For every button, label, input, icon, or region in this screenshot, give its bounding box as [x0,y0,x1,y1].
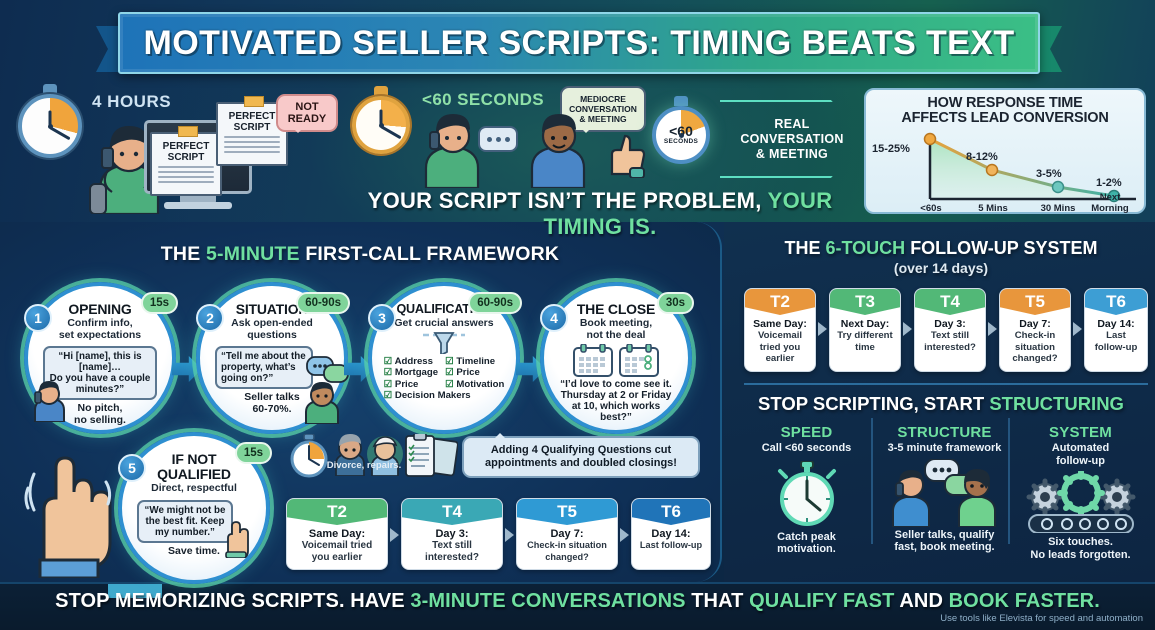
step-duration-1: 15s [141,292,178,314]
title-ribbon: MOTIVATED SELLER SCRIPTS: TIMING BEATS T… [96,12,1062,74]
column-footnote: Catch peak motivation. [740,531,873,556]
arrow-line2: CONVERSATION [740,132,843,146]
small-stop-hand-icon [222,520,252,558]
framework-heading-accent: 5-MINUTE [206,243,300,265]
not-ready-label: NOT READY [278,101,336,125]
structuring-heading: STOP SCRIPTING, START STRUCTURING [736,393,1146,415]
checklist-item: ☑ Decision Makers [384,390,505,402]
ribbon-body: MOTIVATED SELLER SCRIPTS: TIMING BEATS T… [118,12,1040,74]
doc-front-line2: SCRIPT [168,152,205,163]
column-subtitle: Automated follow-up [1014,442,1147,467]
tagline-plain: YOUR SCRIPT ISN’T THE PROBLEM, [368,188,768,213]
checklist-item: ☑ Price [384,379,438,391]
hero-left-scene: 4 HOURS PERFECTSCRIPT PERFECTSCRIPT NOT … [8,78,338,214]
step-duration-3: 60-90s [468,292,522,314]
calendar-icons [572,344,660,378]
stamp-60-unit: SECONDS [664,138,698,145]
doc-back-line2: SCRIPT [234,122,271,133]
mini-timeline-card[interactable]: T5 Day 7:Check-in situation changed? [516,498,618,570]
chart-xtick-0: <60s [908,203,954,214]
touch-card-code: T6 [1085,289,1147,315]
touch-card-line1: Day 3: [919,318,981,330]
mini-card-code: T6 [632,499,710,525]
step-number-4: 4 [540,304,568,332]
arrow-line3: & MEETING [756,147,828,161]
chart-point-label-1: 8-12% [966,151,998,163]
column-subtitle: 3-5 minute framework [878,442,1011,455]
chart-point-label-3: 1-2% [1096,177,1122,189]
column-title: STRUCTURE [878,424,1011,441]
chart-title: HOW RESPONSE TIME AFFECTS LEAD CONVERSIO… [874,96,1136,126]
footer-part1: STOP MEMORIZING SCRIPTS. HAVE [55,590,410,612]
sixtouch-subheading: (over 14 days) [736,260,1146,276]
footer-part2: THAT [686,590,750,612]
step-quote-4: “I’d love to come see it. Thursday at 2 … [553,379,679,423]
step-duration-5: 15s [235,442,272,464]
monitor-base [164,202,232,209]
thumbs-up-icon [600,130,648,178]
touch-card-code: T2 [745,289,815,315]
response-time-chart: HOW RESPONSE TIME AFFECTS LEAD CONVERSIO… [864,88,1146,214]
step-subtitle-5: Direct, respectful [131,483,257,495]
chart-point-label-0: 15-25% [872,143,910,155]
touch-card-t2[interactable]: T2 Same Day:Voicemail tried you earlier [744,288,816,372]
framework-heading: THE 5-MINUTE FIRST-CALL FRAMEWORK [40,243,680,266]
step-duration-2: 60-90s [296,292,350,314]
step-number-2: 2 [196,304,224,332]
chart-xtick-1: 5 Mins [966,203,1020,214]
column-footnote: Seller talks, qualify fast, book meeting… [878,529,1011,554]
clock-4hours-icon [16,84,84,158]
checklist-item: ☑ Motivation [445,379,504,391]
step-card-close[interactable]: 4 30s THE CLOSE Book meeting, not the de… [540,282,692,434]
step-number-3: 3 [368,304,396,332]
mini-timeline-card[interactable]: T4 Day 3:Text still interested? [401,498,503,570]
mini-card-line2: Check-in situation changed? [521,540,613,563]
clipboard-notes-icon [404,434,458,478]
structuring-column-structure: STRUCTURE 3-5 minute framework Seller ta… [878,424,1011,554]
mini-card-line2: Voicemail tried you earlier [291,540,383,563]
mini-card-line1: Same Day: [291,528,383,540]
mini-card-line1: Day 7: [521,528,613,540]
step-subtitle-1: Confirm info, set expectations [37,318,163,341]
mini-card-line1: Day 14: [636,528,706,540]
mini-timeline-card[interactable]: T2 Same Day:Voicemail tried you earlier [286,498,388,570]
touch-card-code: T3 [830,289,900,315]
clock-60seconds-icon [350,86,412,154]
framework-heading-pre: THE [161,243,206,265]
column-title: SYSTEM [1014,424,1147,441]
footer-part3: AND [894,590,948,612]
step-card-qualification[interactable]: 3 60-90s QUALIFICATION Get crucial answe… [368,282,520,434]
step-subtitle-3: Get crucial answers [381,318,507,330]
touch-card-line2: Voicemail tried you earlier [749,330,811,365]
page-title: MOTIVATED SELLER SCRIPTS: TIMING BEATS T… [144,24,1015,63]
sixtouch-heading-pre: THE [784,238,825,258]
touch-card-line2: Check-in situation changed? [1004,330,1066,365]
step-quote-2: “Tell me about the property, what’s goin… [215,346,313,389]
sixtouch-heading-post: FOLLOW-UP SYSTEM [905,238,1097,258]
doc-back-line1: PERFECT [229,111,276,122]
chart-title-line1: HOW RESPONSE TIME [927,95,1082,111]
step-card-not-qualified[interactable]: 5 15s IF NOT QUALIFIED Direct, respectfu… [118,432,270,584]
checklist-item: ☑ Address [384,356,438,368]
step-number-5: 5 [118,454,146,482]
touch-card-t6[interactable]: T6 Day 14:Last follow-up [1084,288,1148,372]
footer-accent2: QUALIFY FAST [749,590,894,612]
touch-card-code: T4 [915,289,985,315]
aside-caption: Divorce, repairs. [316,460,412,471]
mini-card-code: T2 [287,499,387,525]
checklist-item: ☑ Timeline [445,356,504,368]
step-number-1: 1 [24,304,52,332]
footer-accent1: 3-MINUTE CONVERSATIONS [410,590,685,612]
mini-timeline-card[interactable]: T6 Day 14:Last follow-up [631,498,711,570]
arrow-line1: REAL [774,117,809,131]
stopwatch-icon [774,461,840,527]
mini-card-code: T5 [517,499,617,525]
checklist-item: ☑ Mortgage [384,367,438,379]
section-divider [744,383,1148,385]
structuring-column-system: SYSTEM Automated follow-up Six touches. … [1014,424,1147,561]
chart-xtick-3: Next Morning [1080,192,1140,214]
step-duration-4: 30s [657,292,694,314]
seller-avatar-icon [300,380,344,424]
conversation-dots-icon [478,126,518,152]
column-divider [871,418,873,544]
step-subtitle-4: Book meeting, not the deal [553,318,679,341]
column-divider [1008,418,1010,544]
touch-card-code: T5 [1000,289,1070,315]
stamp-60-value: <60 [669,125,693,138]
caller-avatar-icon [30,378,68,422]
stamp-60-seconds-icon: <60 SECONDS [650,96,712,164]
two-people-talking-icon [889,459,1001,527]
touch-card-line1: Day 14: [1089,318,1143,330]
footer-headline: STOP MEMORIZING SCRIPTS. HAVE 3-MINUTE C… [0,590,1155,613]
column-subtitle: Call <60 seconds [740,442,873,455]
mediocre-line1: MEDIOCRE [580,94,626,104]
stop-hand-icon [22,452,118,578]
hero-tagline: YOUR SCRIPT ISN’T THE PROBLEM, YOUR TIMI… [330,188,870,240]
step-quote-5: “We might not be the best fit. Keep my n… [137,500,233,543]
step-card-situation[interactable]: 2 60-90s SITUATION Ask open-ended questi… [196,282,348,434]
mini-card-code: T4 [402,499,502,525]
aside-icon-row [288,432,458,480]
chart-plot-area: 15-25% 8-12% 3-5% 1-2% <60s 5 Mins 30 Mi… [874,129,1140,213]
mini-card-line2: Last follow-up [636,540,706,552]
touch-card-t3[interactable]: T3 Next Day:Try different time [829,288,901,372]
mini-card-line2: Text still interested? [406,540,498,563]
chart-point-label-2: 3-5% [1036,168,1062,180]
checklist-item: ☑ Price [445,367,504,379]
hero-left-clock-label: 4 HOURS [92,92,171,112]
step-subtitle-2: Ask open-ended questions [209,318,335,341]
sixtouch-heading-accent: 6-TOUCH [826,238,906,258]
touch-card-line1: Same Day: [749,318,811,330]
not-ready-badge: NOT READY [276,94,338,132]
gears-icon [1023,471,1139,533]
funnel-icon [415,332,473,354]
touch-card-line2: Try different time [834,330,896,353]
footer-accent3: BOOK FASTER. [949,590,1100,612]
touch-card-line2: Text still interested? [919,330,981,353]
sixtouch-heading: THE 6-TOUCH FOLLOW-UP SYSTEM (over 14 da… [736,238,1146,276]
chart-xtick-2: 30 Mins [1028,203,1088,214]
framework-heading-post: FIRST-CALL FRAMEWORK [300,243,559,265]
chart-title-line2: AFFECTS LEAD CONVERSION [901,110,1108,126]
structuring-heading-accent: STRUCTURING [989,393,1124,414]
structuring-heading-pre: STOP SCRIPTING, START [758,393,989,414]
column-title: SPEED [740,424,873,441]
touch-card-line1: Next Day: [834,318,896,330]
touch-card-line1: Day 7: [1004,318,1066,330]
seller-person-icon [524,108,598,188]
infographic-canvas: MOTIVATED SELLER SCRIPTS: TIMING BEATS T… [0,0,1155,630]
column-footnote: Six touches. No leads forgotten. [1014,536,1147,561]
small-clock-icon [288,434,330,478]
mini-card-line1: Day 3: [406,528,498,540]
qualification-checklist: ☑ Address ☑ Timeline ☑ Mortgage ☑ Price … [381,356,507,402]
footer-attribution: Use tools like Elevista for speed and au… [0,613,1155,624]
insight-bubble: Adding 4 Qualifying Questions cut appoin… [462,436,700,478]
step-card-opening[interactable]: 1 15s OPENING Confirm info, set expectat… [24,282,176,434]
script-document-front: PERFECTSCRIPT [150,132,222,196]
touch-card-line2: Last follow-up [1089,330,1143,353]
touch-card-t5[interactable]: T5 Day 7:Check-in situation changed? [999,288,1071,372]
doc-front-line1: PERFECT [163,141,210,152]
structuring-column-speed: SPEED Call <60 seconds Catch peak motiva… [740,424,873,556]
hero-middle-scene: <60 SECONDS MEDIOCRECONVERSATION& MEETIN… [344,78,764,188]
touch-card-t4[interactable]: T4 Day 3:Text still interested? [914,288,986,372]
